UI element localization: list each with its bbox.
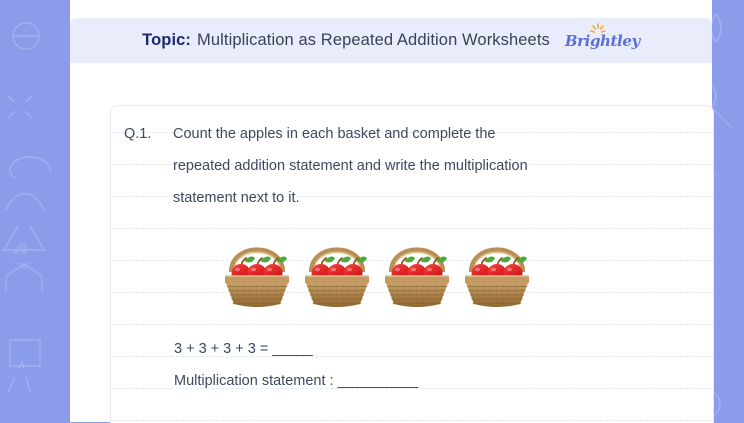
apple-baskets-illustration — [221, 226, 713, 311]
apple-basket-icon — [221, 226, 293, 311]
spiral-ring-icon — [0, 399, 70, 421]
spiral-ring-icon — [0, 361, 70, 383]
spiral-ring-icon — [0, 247, 70, 269]
brightley-logo: Brightley — [565, 32, 640, 51]
repeated-addition-line: 3 + 3 + 3 + 3 = _____ — [174, 333, 713, 365]
spiral-ring-icon — [0, 133, 70, 155]
topic-label: Topic: — [142, 31, 191, 50]
spiral-ring-icon — [0, 285, 70, 307]
ruled-line — [111, 324, 713, 325]
answer-block: 3 + 3 + 3 + 3 = _____ Multiplication sta… — [111, 333, 713, 397]
apple-basket-icon — [301, 226, 373, 311]
ruled-line — [111, 420, 713, 421]
spiral-ring-icon — [0, 95, 70, 117]
question-line: Count the apples in each basket and comp… — [173, 118, 528, 150]
topic-title: Multiplication as Repeated Addition Work… — [197, 31, 550, 50]
question-line: repeated addition statement and write th… — [173, 150, 528, 182]
spiral-ring-icon — [0, 209, 70, 231]
apple-basket-icon — [461, 226, 533, 311]
apple-basket-icon — [381, 226, 453, 311]
question-text: Count the apples in each basket and comp… — [173, 118, 528, 214]
spiral-ring-icon — [0, 323, 70, 345]
question-number: Q.1. — [111, 118, 173, 150]
sunburst-icon — [590, 23, 606, 35]
question-card: Q.1. Count the apples in each basket and… — [110, 105, 714, 423]
spiral-binding — [0, 0, 70, 422]
multiplication-statement-line: Multiplication statement : __________ — [174, 365, 713, 397]
spiral-ring-icon — [0, 171, 70, 193]
worksheet-header: Topic: Multiplication as Repeated Additi… — [70, 18, 712, 63]
question-block: Q.1. Count the apples in each basket and… — [111, 106, 713, 214]
question-line: statement next to it. — [173, 182, 528, 214]
